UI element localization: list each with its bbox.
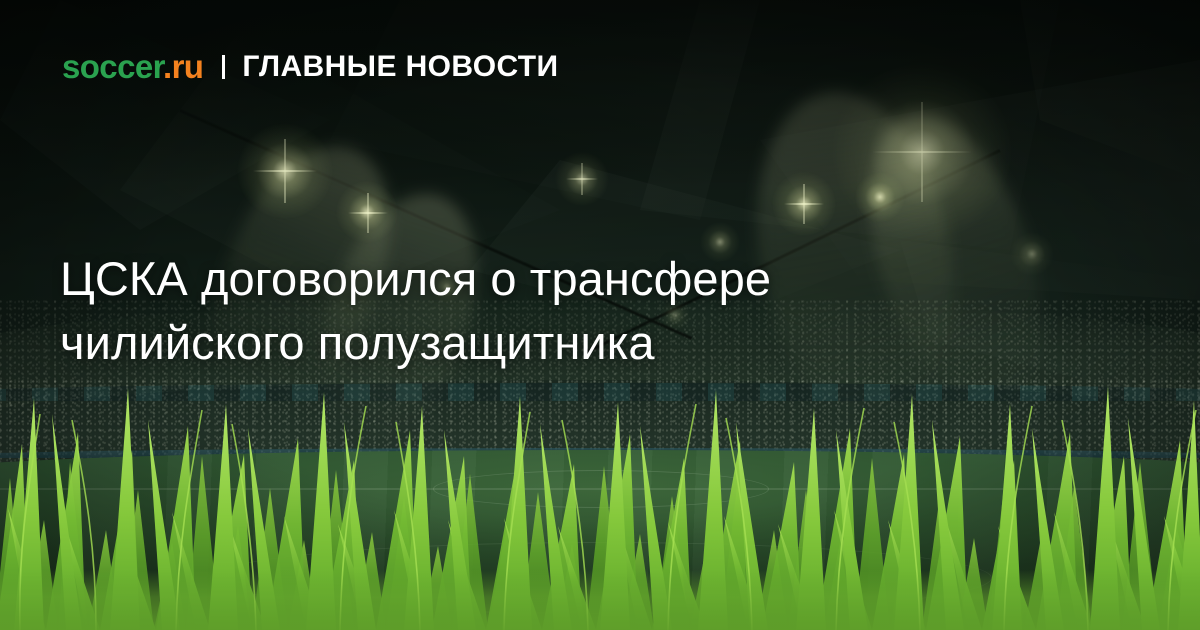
headline-line-2: чилийского полузащитника bbox=[60, 311, 1070, 375]
site-header: soccer.ru ГЛАВНЫЕ НОВОСТИ bbox=[62, 50, 558, 83]
page-title: ЦСКА договорился о трансфере чилийского … bbox=[60, 247, 1070, 375]
header-kicker-label: ГЛАВНЫЕ НОВОСТИ bbox=[242, 52, 558, 82]
logo-name-text: soccer bbox=[62, 48, 163, 85]
soccer-ru-logo[interactable]: soccer.ru bbox=[62, 50, 203, 83]
share-card: soccer.ru ГЛАВНЫЕ НОВОСТИ ЦСКА договорил… bbox=[0, 0, 1200, 630]
header-separator bbox=[222, 55, 225, 79]
headline-line-1: ЦСКА договорился о трансфере bbox=[60, 247, 1070, 311]
logo-tld-text: .ru bbox=[163, 48, 203, 85]
